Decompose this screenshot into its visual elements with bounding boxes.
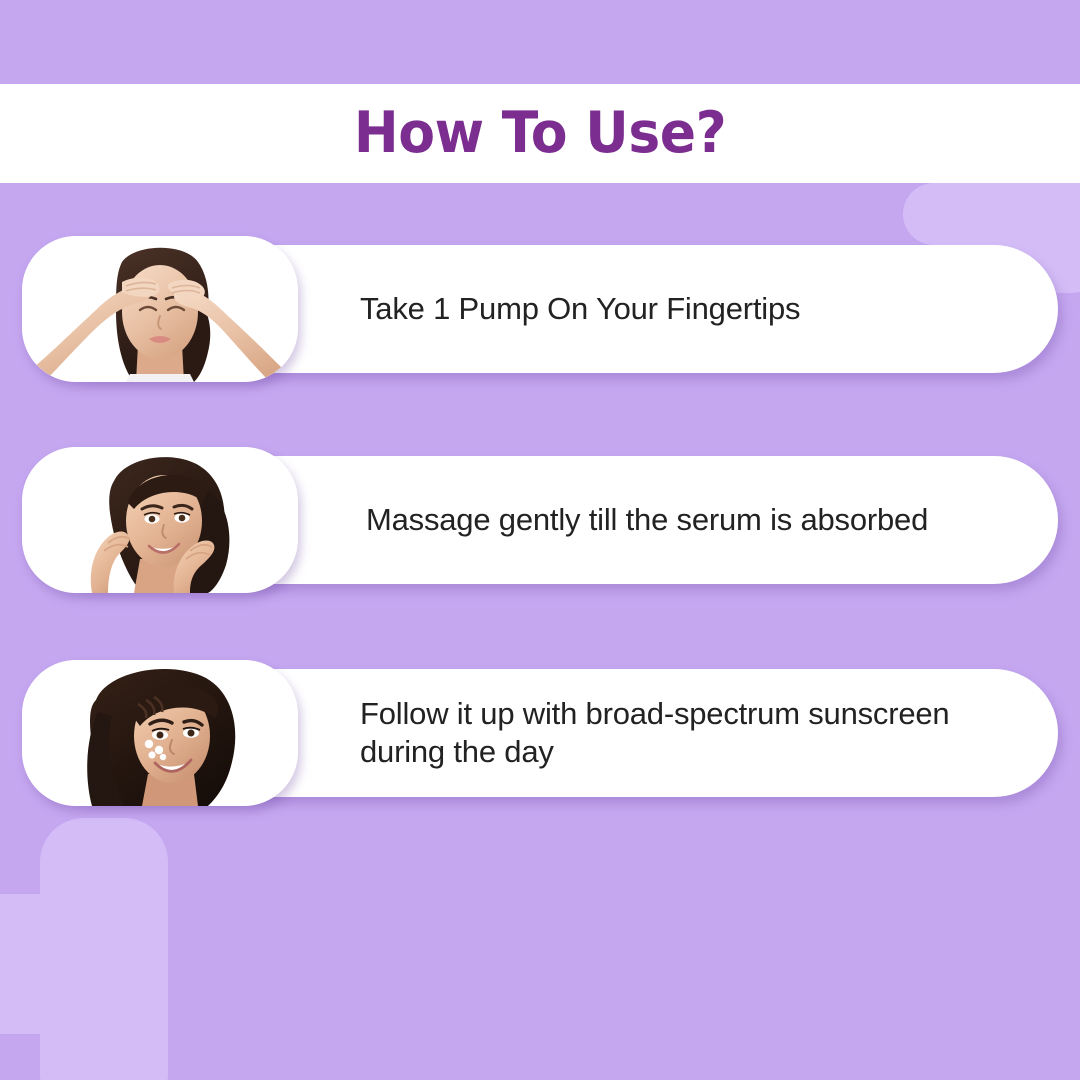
step-thumbnail bbox=[22, 447, 298, 593]
step-thumbnail bbox=[22, 236, 298, 382]
step-label: Massage gently till the serum is absorbe… bbox=[366, 456, 1046, 584]
step-photo-2 bbox=[22, 447, 298, 593]
step-label: Follow it up with broad-spectrum sunscre… bbox=[360, 669, 1040, 797]
step-label: Take 1 Pump On Your Fingertips bbox=[360, 245, 1040, 373]
how-to-use-poster: How To Use? Take 1 Pump On Your Fingerti… bbox=[0, 0, 1080, 1080]
steps-list: Take 1 Pump On Your Fingertips bbox=[0, 0, 1080, 1080]
step-photo-1 bbox=[22, 236, 298, 382]
step-photo-3 bbox=[22, 660, 298, 806]
step-thumbnail bbox=[22, 660, 298, 806]
